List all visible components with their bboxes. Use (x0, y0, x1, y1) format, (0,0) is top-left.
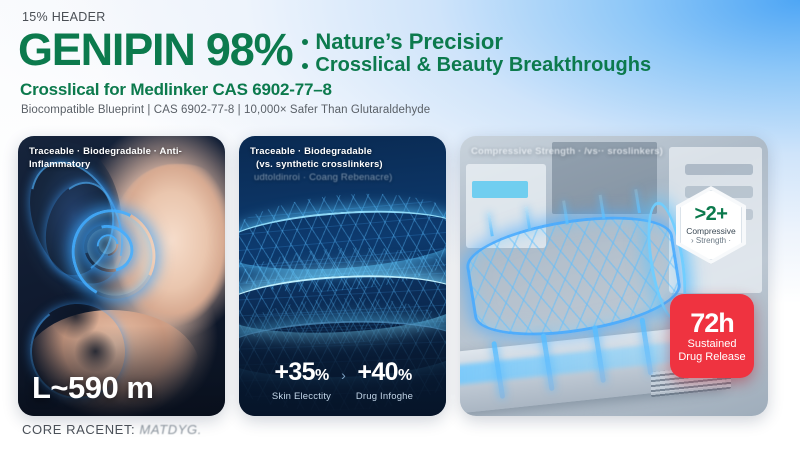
stat-skin-elasticity-value: +35% (272, 359, 331, 389)
card-mesh-tag-line-2: (vs. synthetic crosslinkers) (250, 158, 437, 171)
stat-skin-elasticity-label: Skin Elecctity (272, 391, 331, 402)
card-lab-tag: Compressive Strength · /vs·· sroslinkers… (471, 145, 759, 158)
page-caption: Biocompatible Blueprint | CAS 6902-77-8 … (21, 104, 430, 116)
headline-row: GENIPIN 98% Nature’s Precisior Crosslica… (18, 27, 651, 77)
footer-label: CORE RACENET: (22, 422, 139, 437)
compressive-strength-badge[interactable]: >2+ Compressive › Strength · (676, 186, 746, 264)
hex-badge-line-1: Compressive (686, 226, 736, 236)
card-portrait-tag: Traceable · Biodegradable · Anti-Inflamm… (29, 145, 216, 171)
card-lab-tag-line-1: Compressive Strength · /vs·· sroslinkers… (471, 145, 759, 158)
red-badge-line-1: Sustained (688, 338, 737, 351)
stat-skin-elasticity: +35% Skin Elecctity (272, 359, 331, 402)
bullet-dot-icon (302, 63, 308, 69)
footer-text: CORE RACENET: MATDYG. (22, 422, 202, 437)
bullet-dot-icon (302, 39, 308, 45)
card-mesh-tag-line-3: udtoldinroi · Coang Rebenacre) (250, 171, 437, 184)
lab-shelf (685, 164, 753, 175)
stat-drug-uptake-label: Drug Infoghe (356, 391, 413, 402)
card-portrait[interactable]: Traceable · Biodegradable · Anti-Inflamm… (18, 136, 225, 416)
header-note: 15% HEADER (22, 10, 106, 24)
stat-drug-uptake-value: +40% (356, 359, 413, 389)
card-portrait-tag-line-1: Traceable · Biodegradable · Anti-Inflamm… (29, 145, 216, 171)
stat-drug-uptake: +40% Drug Infoghe (356, 359, 413, 402)
headline-bullet-1: Nature’s Precisior (302, 30, 651, 54)
stat-value-number: +40 (357, 358, 398, 386)
lab-indicator (472, 181, 527, 198)
hex-badge-value: >2+ (695, 204, 728, 224)
footer-degraded-label: MATDYG. (139, 422, 201, 437)
headline-bullets: Nature’s Precisior Crosslical & Beauty B… (302, 27, 651, 77)
sustained-release-badge[interactable]: 72h Sustained Drug Release (670, 294, 754, 378)
headline-bullet-1-label: Nature’s Precisior (315, 30, 503, 54)
stat-value-number: +35 (274, 358, 315, 386)
card-lab[interactable]: Compressive Strength · /vs·· sroslinkers… (460, 136, 768, 416)
hex-badge-line-2: › Strength · (691, 236, 731, 246)
poster-canvas: 15% HEADER GENIPIN 98% Nature’s Precisio… (0, 0, 800, 450)
cards-row: Traceable · Biodegradable · Anti-Inflamm… (18, 136, 768, 416)
card-mesh[interactable]: Traceable · Biodegradable (vs. synthetic… (239, 136, 446, 416)
headline-bullet-2-label: Crosslical & Beauty Breakthroughs (315, 54, 651, 77)
headline-bullet-2: Crosslical & Beauty Breakthroughs (302, 54, 651, 77)
card-mesh-stats: +35% Skin Elecctity › +40% Drug Infoghe (239, 359, 446, 402)
stat-value-unit: % (398, 367, 412, 384)
card-mesh-tag: Traceable · Biodegradable (vs. synthetic… (250, 145, 437, 184)
page-subtitle: Crosslical for Medlinker CAS 6902-77–8 (20, 80, 332, 100)
card-portrait-stat: L~590 m (32, 370, 153, 406)
red-badge-value: 72h (690, 309, 734, 337)
red-badge-line-2: Drug Release (678, 351, 745, 364)
card-mesh-tag-line-1: Traceable · Biodegradable (250, 145, 437, 158)
stat-separator-icon: › (341, 367, 346, 395)
stat-value-unit: % (315, 367, 329, 384)
page-title: GENIPIN 98% (18, 27, 292, 73)
